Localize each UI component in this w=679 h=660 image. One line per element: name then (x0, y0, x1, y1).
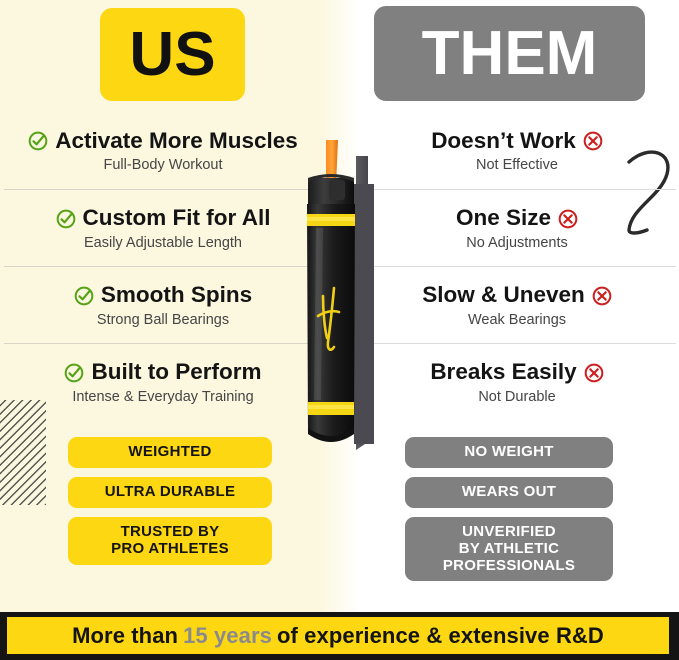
them-feature-heading: One Size (456, 207, 578, 230)
us-feature-heading: Custom Fit for All (56, 207, 271, 230)
us-header-label: US (129, 19, 215, 90)
product-image (296, 138, 392, 468)
banner-prefix-text: More than (72, 623, 178, 649)
check-circle-icon (74, 286, 94, 306)
us-feature-row: Custom Fit for All Easily Adjustable Len… (4, 189, 322, 266)
check-circle-icon (56, 209, 76, 229)
us-badge-pill: TRUSTED BY PRO ATHLETES (68, 517, 272, 565)
them-badge-pill: NO WEIGHT (405, 437, 613, 468)
them-feature-subtitle: No Adjustments (466, 235, 568, 251)
them-feature-title: One Size (456, 207, 551, 230)
us-feature-list: Activate More Muscles Full-Body Workout … (4, 112, 322, 420)
us-feature-row: Activate More Muscles Full-Body Workout (4, 112, 322, 189)
us-badge-pill: ULTRA DURABLE (68, 477, 272, 508)
us-header-badge: US (100, 8, 245, 101)
check-circle-icon (64, 363, 84, 383)
us-feature-subtitle: Full-Body Workout (104, 157, 223, 173)
cross-circle-icon (583, 131, 603, 151)
them-feature-title: Doesn’t Work (431, 130, 576, 153)
banner-suffix-text: of experience & extensive R&D (277, 623, 604, 649)
banner-highlight-text: 15 years (178, 623, 277, 649)
them-header-label: THEM (422, 18, 598, 89)
them-feature-title: Breaks Easily (430, 361, 576, 384)
us-feature-title: Built to Perform (91, 361, 261, 384)
them-feature-row: Breaks Easily Not Durable (358, 343, 676, 420)
us-feature-subtitle: Strong Ball Bearings (97, 312, 229, 328)
us-feature-row: Smooth Spins Strong Ball Bearings (4, 266, 322, 343)
them-feature-list: Doesn’t Work Not Effective One Size No A… (358, 112, 676, 420)
us-feature-title: Smooth Spins (101, 284, 252, 307)
them-feature-row: Slow & Uneven Weak Bearings (358, 266, 676, 343)
us-feature-subtitle: Intense & Everyday Training (72, 389, 253, 405)
them-feature-heading: Slow & Uneven (422, 284, 612, 307)
them-feature-heading: Doesn’t Work (431, 130, 603, 153)
cross-circle-icon (592, 286, 612, 306)
them-badge-pill: UNVERIFIED BY ATHLETIC PROFESSIONALS (405, 517, 613, 581)
cross-circle-icon (558, 209, 578, 229)
cross-circle-icon (584, 363, 604, 383)
bottom-banner: More than 15 years of experience & exten… (7, 617, 669, 654)
comparison-infographic: US THEM Activate More Muscles Full-Body … (0, 0, 679, 660)
us-feature-row: Built to Perform Intense & Everyday Trai… (4, 343, 322, 420)
check-circle-icon (28, 131, 48, 151)
us-feature-heading: Smooth Spins (74, 284, 252, 307)
them-feature-heading: Breaks Easily (430, 361, 603, 384)
us-feature-heading: Activate More Muscles (28, 130, 298, 153)
us-badge-pill: WEIGHTED (68, 437, 272, 468)
us-feature-subtitle: Easily Adjustable Length (84, 235, 242, 251)
them-feature-row: Doesn’t Work Not Effective (358, 112, 676, 189)
them-feature-row: One Size No Adjustments (358, 189, 676, 266)
them-feature-title: Slow & Uneven (422, 284, 585, 307)
them-feature-subtitle: Weak Bearings (468, 312, 566, 328)
us-feature-heading: Built to Perform (64, 361, 261, 384)
them-badge-pill: WEARS OUT (405, 477, 613, 508)
them-feature-subtitle: Not Effective (476, 157, 558, 173)
them-badge-list: NO WEIGHT WEARS OUT UNVERIFIED BY ATHLET… (405, 437, 613, 581)
us-badge-list: WEIGHTED ULTRA DURABLE TRUSTED BY PRO AT… (68, 437, 272, 565)
them-header-badge: THEM (374, 6, 645, 101)
them-feature-subtitle: Not Durable (478, 389, 555, 405)
us-feature-title: Activate More Muscles (55, 130, 298, 153)
us-feature-title: Custom Fit for All (83, 207, 271, 230)
